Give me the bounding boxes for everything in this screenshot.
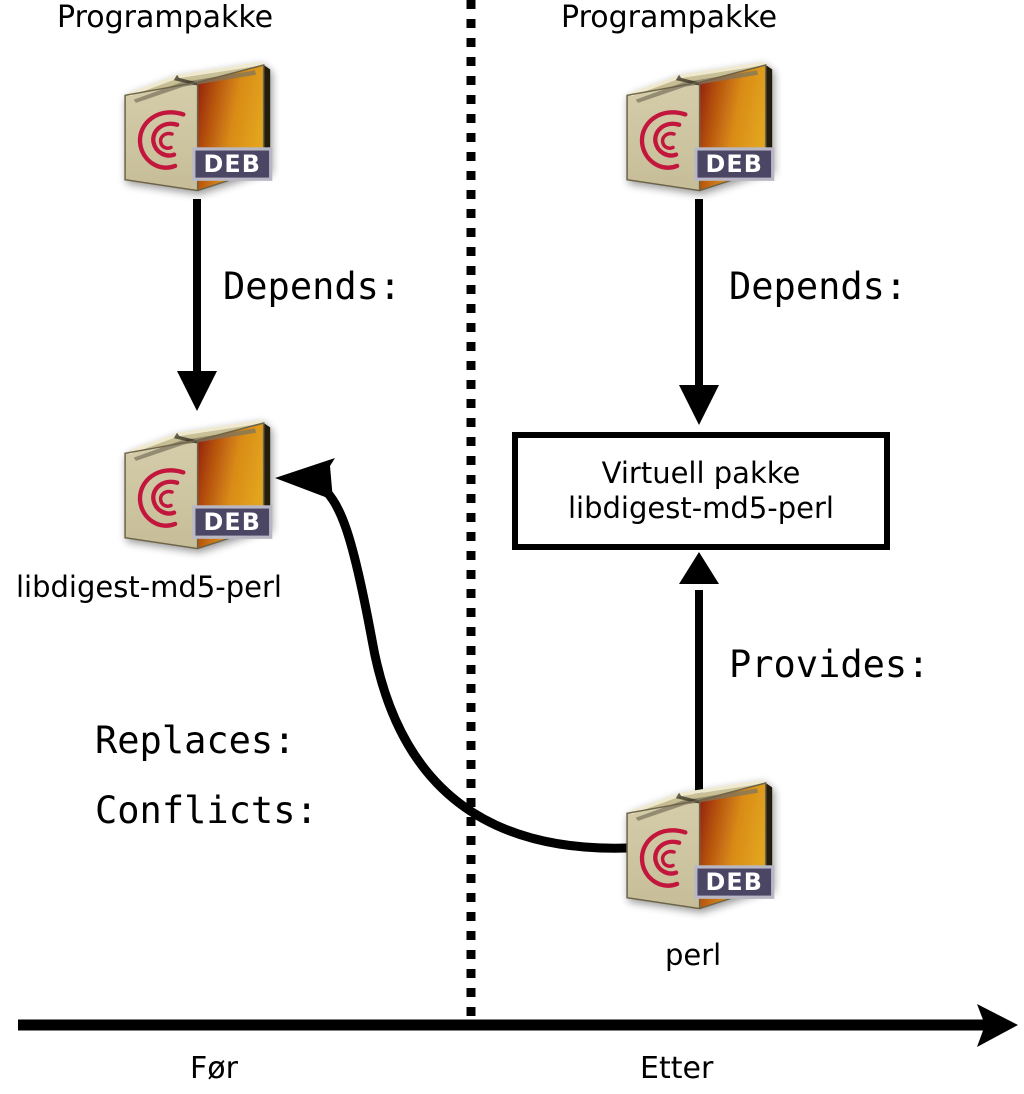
package-label-perl: perl xyxy=(665,940,721,970)
relation-provides: Provides: xyxy=(729,646,929,685)
heading-left-programpakke: Programpakke xyxy=(57,2,273,34)
diagram-canvas: DEB Programpakke Programpakke Depends: D… xyxy=(0,0,1024,1094)
depends-arrow-left-head xyxy=(177,371,217,411)
relation-depends-left: Depends: xyxy=(223,268,401,307)
package-icon-top-right xyxy=(627,62,774,191)
provides-arrow-head xyxy=(679,552,719,584)
virtual-package-line-2: libdigest-md5-perl xyxy=(568,491,834,526)
package-icon-perl xyxy=(627,780,774,909)
package-icon-top-left xyxy=(125,62,272,191)
virtual-package-line-1: Virtuell pakke xyxy=(602,456,801,491)
relation-depends-right: Depends: xyxy=(729,268,907,307)
virtual-package-box: Virtuell pakke libdigest-md5-perl xyxy=(512,432,890,550)
depends-arrow-right-head xyxy=(679,385,719,425)
package-label-libdigest-md5-perl: libdigest-md5-perl xyxy=(16,572,282,602)
package-icon-libdigest-md5-perl xyxy=(125,420,272,549)
timeline-label-after: Etter xyxy=(640,1053,713,1085)
heading-right-programpakke: Programpakke xyxy=(561,2,777,34)
relation-replaces: Replaces: xyxy=(95,722,295,761)
timeline-label-before: Før xyxy=(190,1053,238,1085)
replaces-conflicts-arrowhead xyxy=(275,458,335,500)
relation-conflicts: Conflicts: xyxy=(95,792,318,831)
